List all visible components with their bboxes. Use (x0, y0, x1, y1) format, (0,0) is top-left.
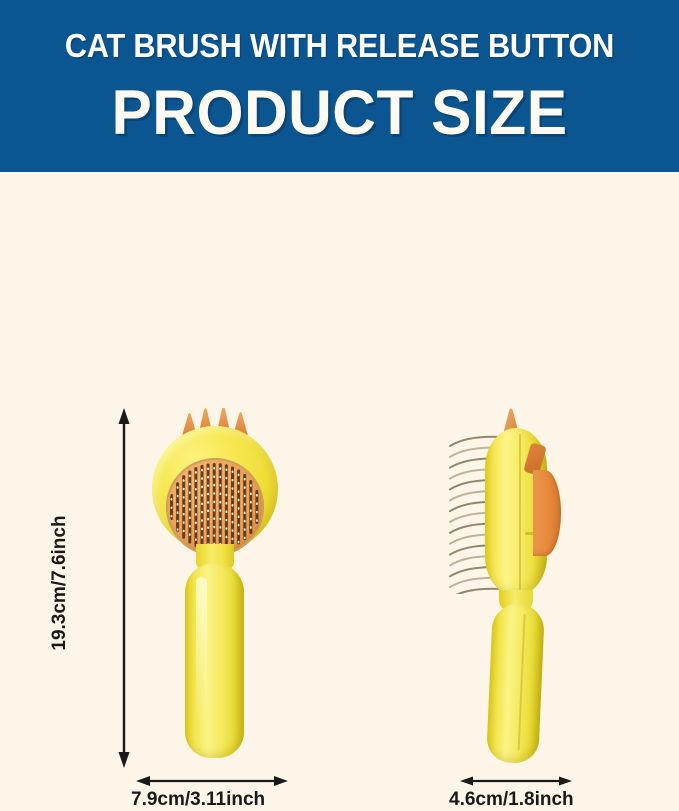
product-size-infographic: CAT BRUSH WITH RELEASE BUTTON PRODUCT SI… (0, 0, 679, 679)
product-side-view (455, 408, 591, 763)
height-dimension-label: 19.3cm/7.6inch (49, 483, 71, 683)
handle-highlight (196, 577, 207, 727)
brush-head-front (152, 426, 278, 552)
bristle-pad (166, 458, 264, 556)
release-button[interactable] (533, 470, 561, 556)
page-subtitle: PRODUCT SIZE (14, 78, 666, 148)
page-title: CAT BRUSH WITH RELEASE BUTTON (24, 27, 655, 65)
brush-handle-front (185, 563, 244, 758)
side-width-dimension-label: 4.6cm/1.8inch (449, 789, 574, 811)
header-banner: CAT BRUSH WITH RELEASE BUTTON PRODUCT SI… (0, 0, 679, 172)
body-seam (519, 434, 521, 590)
front-width-dimension-label: 7.9cm/3.11inch (131, 789, 265, 811)
side-width-dimension-arrow (460, 772, 572, 790)
height-dimension-arrow (112, 408, 136, 768)
product-front-view (152, 408, 278, 758)
handle-seam (518, 614, 526, 750)
brush-handle-side (486, 603, 545, 764)
bristle-slots-pattern (166, 458, 264, 556)
product-stage: 19.3cm/7.6inch 7.9cm/3.11inch 4.6cm/1.8i… (0, 172, 679, 679)
front-width-dimension-arrow (136, 772, 288, 790)
